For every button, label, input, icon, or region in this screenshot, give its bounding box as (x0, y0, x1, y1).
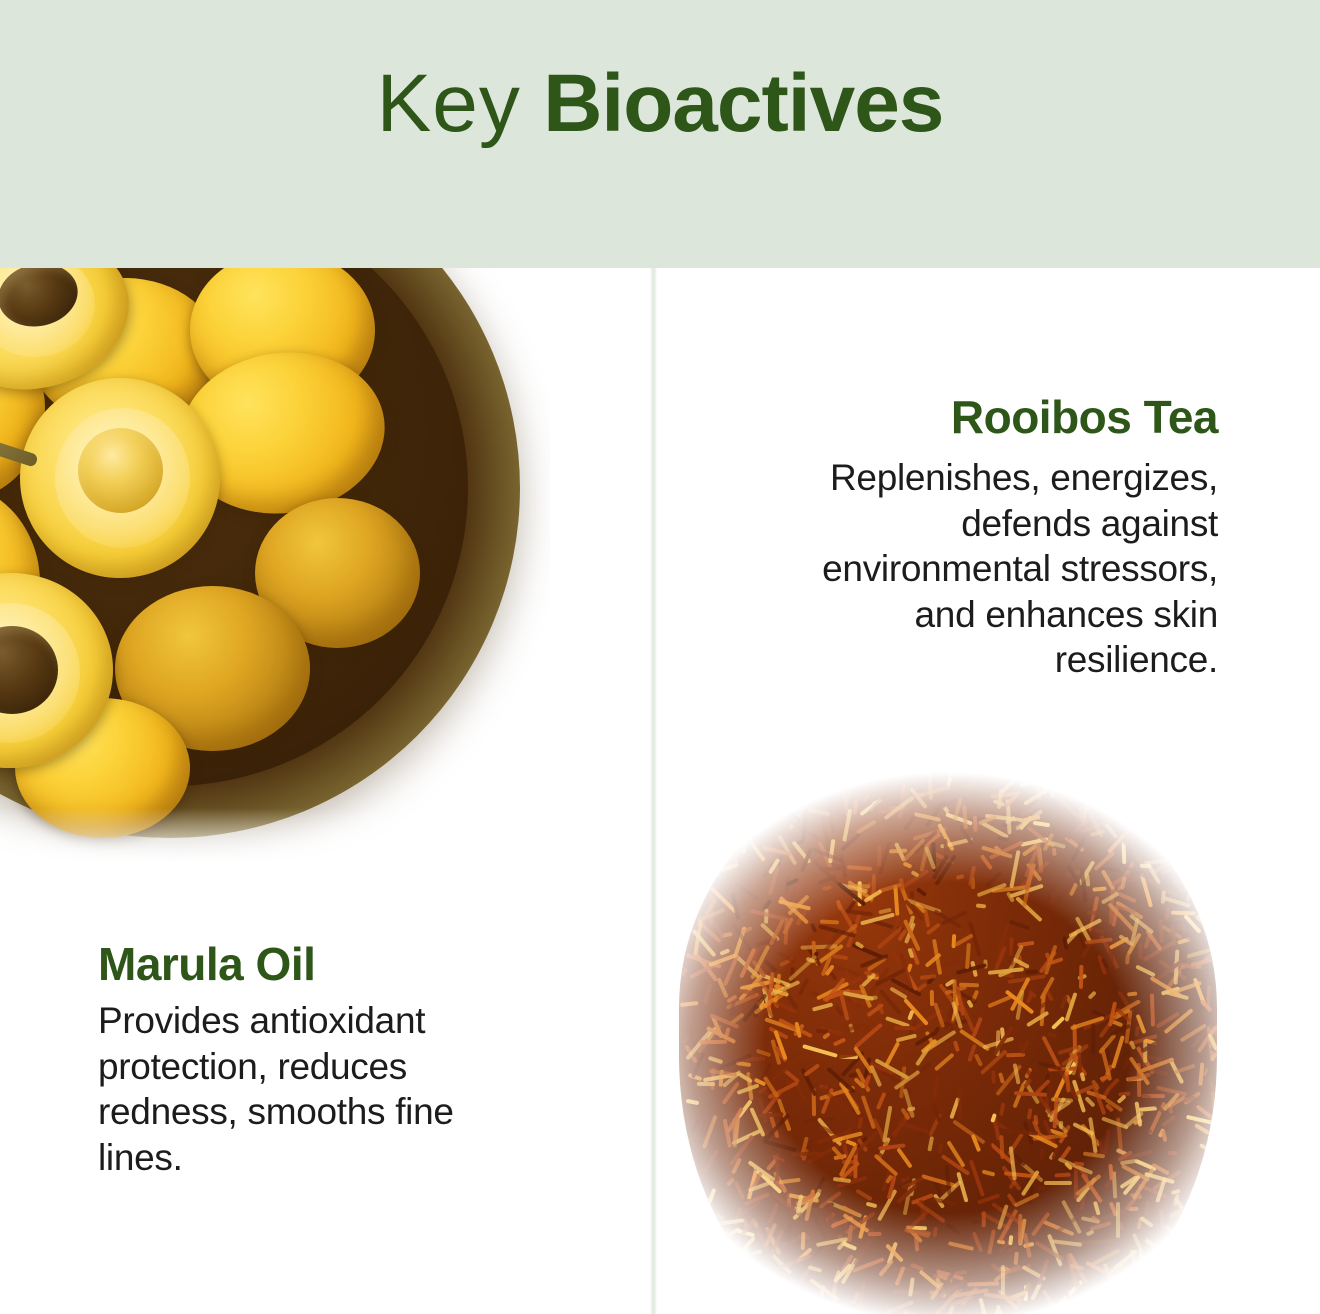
rooibos-heading: Rooibos Tea (758, 393, 1218, 441)
page-title: Key Bioactives (377, 63, 944, 145)
left-column-marula: Marula Oil Provides antioxidant protecti… (0, 268, 650, 1314)
marula-oil-image (0, 268, 550, 868)
rooibos-description: Replenishes, energizes, defends against … (758, 455, 1218, 683)
marula-description: Provides antioxidant protection, reduces… (98, 998, 518, 1180)
rooibos-text-block: Rooibos Tea Replenishes, energizes, defe… (758, 393, 1218, 683)
page-title-light: Key (377, 58, 521, 149)
content-area: Marula Oil Provides antioxidant protecti… (0, 268, 1320, 1314)
column-divider (650, 268, 657, 1314)
marula-pit (78, 428, 163, 513)
right-column-rooibos: Rooibos Tea Replenishes, energizes, defe… (657, 268, 1320, 1314)
page-title-bold: Bioactives (543, 58, 943, 149)
rooibos-tea-image (657, 748, 1320, 1314)
marula-text-block: Marula Oil Provides antioxidant protecti… (98, 940, 518, 1180)
tea-leaf-pile (679, 756, 1217, 1314)
header-band: Key Bioactives (0, 0, 1320, 268)
tea-leaf-texture (679, 756, 1217, 1314)
marula-heading: Marula Oil (98, 940, 518, 988)
